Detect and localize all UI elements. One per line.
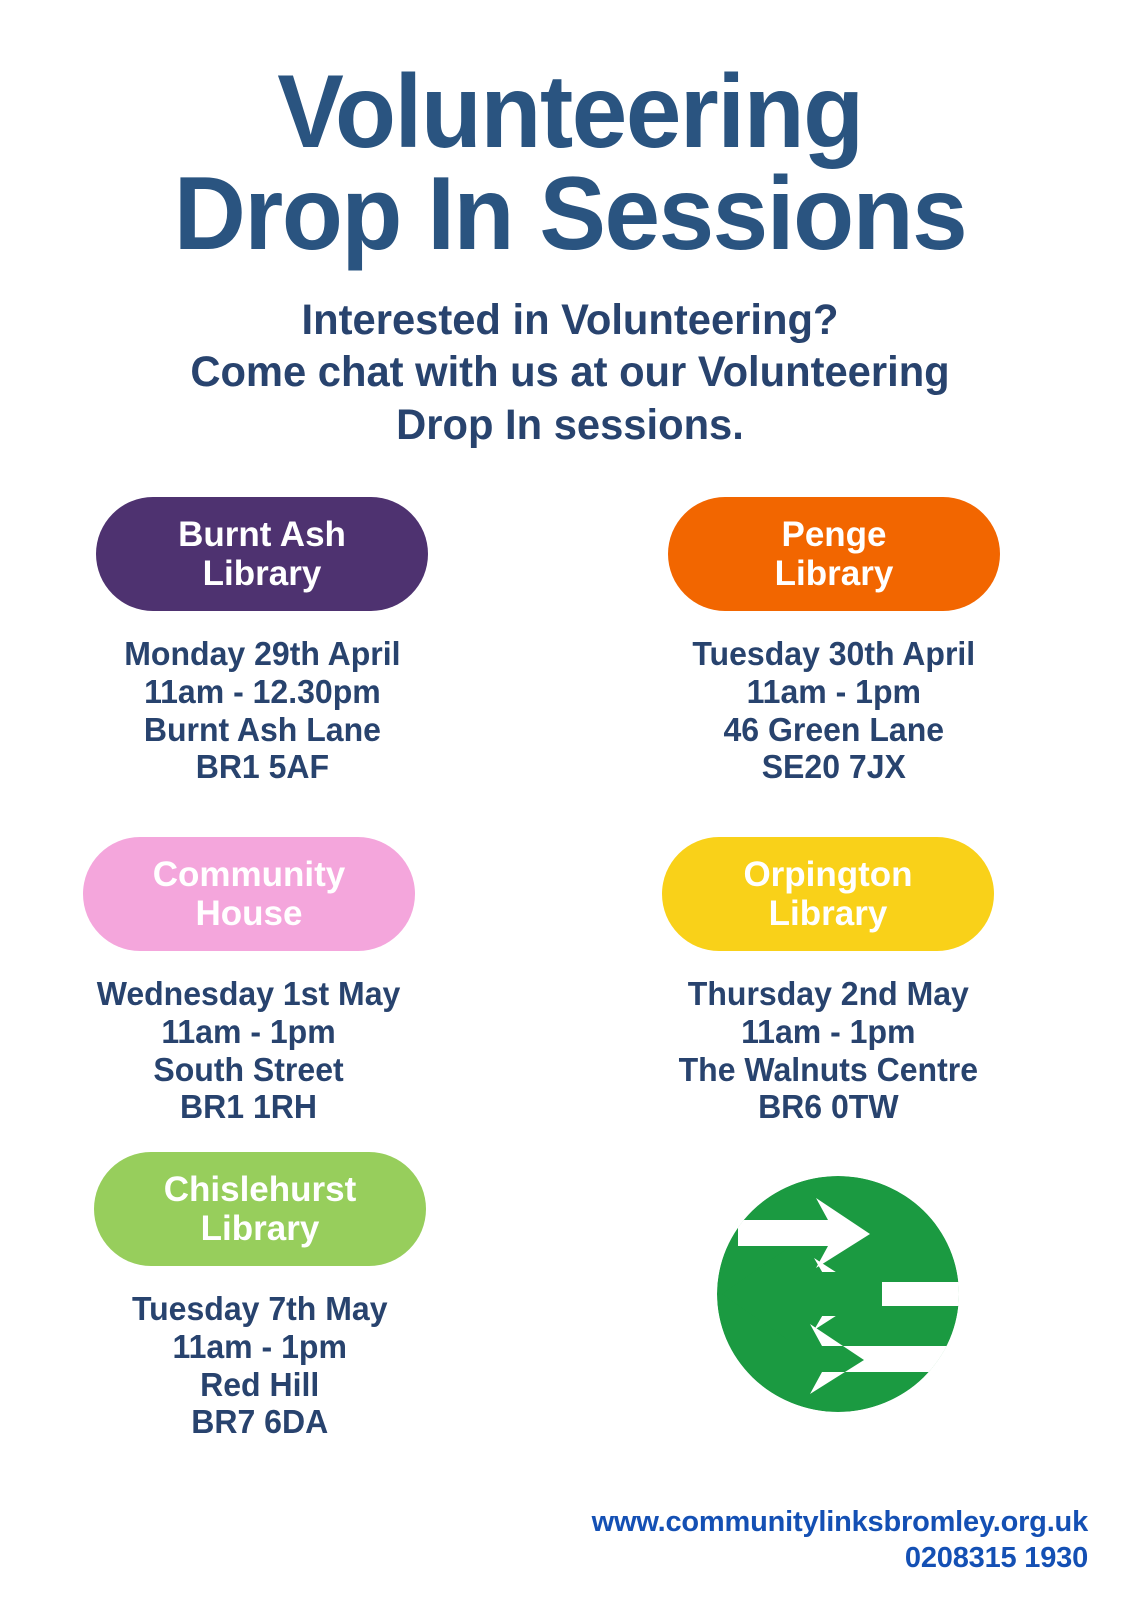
logo-cell — [570, 1152, 1140, 1452]
session-date: Tuesday 7th May — [132, 1290, 388, 1328]
footer: www.communitylinksbromley.org.uk 0208315… — [592, 1505, 1088, 1576]
session-date: Thursday 2nd May — [678, 975, 977, 1013]
session-postcode: BR1 5AF — [124, 748, 400, 786]
session-time: 11am - 1pm — [132, 1328, 388, 1366]
session-time: 11am - 1pm — [97, 1013, 401, 1051]
venue-badge-penge: Penge Library — [668, 497, 1000, 611]
logo-wrap — [570, 1152, 1140, 1414]
venue-name-line-2: Library — [164, 1209, 357, 1248]
venue-badge-burnt-ash: Burnt Ash Library — [96, 497, 428, 611]
session-row-3: Chislehurst Library Tuesday 7th May 11am… — [0, 1152, 1140, 1452]
venue-badge-community-house: Community House — [83, 837, 415, 951]
session-time: 11am - 12.30pm — [124, 673, 400, 711]
title-line-1: Volunteering — [61, 62, 1079, 164]
subtitle-line-2: Come chat with us at our Volunteering — [64, 346, 1077, 398]
session-card-chislehurst: Chislehurst Library Tuesday 7th May 11am… — [0, 1152, 595, 1441]
session-postcode: BR6 0TW — [678, 1088, 977, 1126]
volunteering-poster: Volunteering Drop In Sessions Interested… — [0, 0, 1140, 1612]
session-postcode: SE20 7JX — [693, 748, 976, 786]
subtitle-line-1: Interested in Volunteering? — [64, 294, 1077, 346]
session-street: Burnt Ash Lane — [124, 711, 400, 749]
session-cell-penge: Penge Library Tuesday 30th April 11am - … — [570, 497, 1140, 837]
heading-block: Volunteering Drop In Sessions Interested… — [0, 0, 1140, 451]
venue-name-line-2: House — [153, 894, 346, 933]
session-street: The Walnuts Centre — [678, 1051, 977, 1089]
session-details-orpington: Thursday 2nd May 11am - 1pm The Walnuts … — [678, 975, 977, 1125]
session-details-chislehurst: Tuesday 7th May 11am - 1pm Red Hill BR7 … — [132, 1290, 388, 1440]
venue-name-line-1: Community — [153, 855, 346, 894]
website-link[interactable]: www.communitylinksbromley.org.uk — [592, 1505, 1088, 1540]
venue-name-line-1: Burnt Ash — [178, 515, 346, 554]
page-subtitle: Interested in Volunteering? Come chat wi… — [17, 266, 1123, 451]
session-card-penge: Penge Library Tuesday 30th April 11am - … — [549, 497, 1140, 786]
session-card-burnt-ash: Burnt Ash Library Monday 29th April 11am… — [0, 497, 593, 786]
session-date: Tuesday 30th April — [693, 635, 976, 673]
session-street: Red Hill — [132, 1366, 388, 1404]
venue-name-line-2: Library — [775, 554, 894, 593]
session-date: Monday 29th April — [124, 635, 400, 673]
session-time: 11am - 1pm — [693, 673, 976, 711]
session-time: 11am - 1pm — [678, 1013, 977, 1051]
session-details-community-house: Wednesday 1st May 11am - 1pm South Stree… — [97, 975, 401, 1125]
session-postcode: BR7 6DA — [132, 1403, 388, 1441]
venue-name-line-1: Penge — [775, 515, 894, 554]
venue-name-line-2: Library — [178, 554, 346, 593]
session-card-grid: Burnt Ash Library Monday 29th April 11am… — [0, 497, 1140, 1452]
title-line-2: Drop In Sessions — [61, 164, 1079, 266]
venue-name-line-2: Library — [743, 894, 912, 933]
session-date: Wednesday 1st May — [97, 975, 401, 1013]
session-cell-community-house: Community House Wednesday 1st May 11am -… — [0, 837, 570, 1152]
session-card-orpington: Orpington Library Thursday 2nd May 11am … — [543, 837, 1140, 1126]
session-cell-chislehurst: Chislehurst Library Tuesday 7th May 11am… — [0, 1152, 570, 1452]
session-street: South Street — [97, 1051, 401, 1089]
venue-badge-orpington: Orpington Library — [662, 837, 994, 951]
session-postcode: BR1 1RH — [97, 1088, 401, 1126]
session-details-burnt-ash: Monday 29th April 11am - 12.30pm Burnt A… — [124, 635, 400, 785]
venue-name-line-1: Chislehurst — [164, 1170, 357, 1209]
session-details-penge: Tuesday 30th April 11am - 1pm 46 Green L… — [693, 635, 976, 785]
session-street: 46 Green Lane — [693, 711, 976, 749]
page-title: Volunteering Drop In Sessions — [23, 62, 1117, 266]
session-cell-burnt-ash: Burnt Ash Library Monday 29th April 11am… — [0, 497, 570, 837]
session-cell-orpington: Orpington Library Thursday 2nd May 11am … — [570, 837, 1140, 1152]
session-card-community-house: Community House Wednesday 1st May 11am -… — [0, 837, 606, 1126]
venue-name-line-1: Orpington — [743, 855, 912, 894]
session-row-2: Community House Wednesday 1st May 11am -… — [0, 837, 1140, 1152]
community-links-bromley-logo-icon — [714, 1174, 962, 1414]
phone-number[interactable]: 0208315 1930 — [592, 1541, 1088, 1576]
venue-badge-chislehurst: Chislehurst Library — [94, 1152, 426, 1266]
subtitle-line-3: Drop In sessions. — [64, 399, 1077, 451]
session-row-1: Burnt Ash Library Monday 29th April 11am… — [0, 497, 1140, 837]
